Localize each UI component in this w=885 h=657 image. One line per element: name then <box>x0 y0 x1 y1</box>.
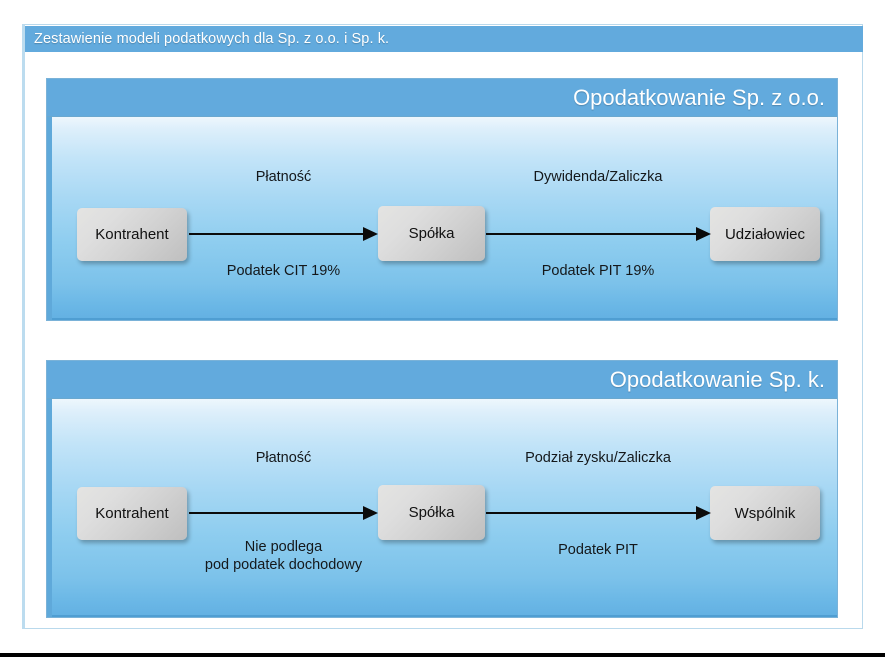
edge-label-below-2a: Nie podlega pod podatek dochodowy <box>173 538 394 574</box>
node-udzialowiec-1[interactable]: Udziałowiec <box>710 207 820 261</box>
node-spolka-1[interactable]: Spółka <box>378 206 485 261</box>
node-label: Spółka <box>409 225 455 242</box>
document-title-bar: Zestawienie modeli podatkowych dla Sp. z… <box>25 26 863 52</box>
arrow-kontrahent-to-spolka-1 <box>189 226 378 242</box>
panel-header-sp-k: Opodatkowanie Sp. k. <box>47 361 837 399</box>
node-label: Kontrahent <box>95 505 168 522</box>
edge-label-text: Podatek PIT 19% <box>542 263 655 279</box>
arrow-line <box>189 233 364 235</box>
edge-label-above-2b: Podział zysku/Zaliczka <box>486 449 710 467</box>
node-kontrahent-1[interactable]: Kontrahent <box>77 208 187 261</box>
panel-body-sp-k: Kontrahent Spółka Wspólnik Płatność Nie … <box>47 399 837 617</box>
edge-label-above-1b: Dywidenda/Zaliczka <box>486 168 710 186</box>
edge-label-above-2a: Płatność <box>189 449 378 467</box>
node-wspolnik-2[interactable]: Wspólnik <box>710 486 820 540</box>
arrow-spolka-to-udzialowiec-1 <box>486 226 710 242</box>
node-label: Spółka <box>409 504 455 521</box>
node-kontrahent-2[interactable]: Kontrahent <box>77 487 187 540</box>
edge-label-above-1a: Płatność <box>189 168 378 186</box>
edge-label-text: Podatek CIT 19% <box>227 263 340 279</box>
edge-label-below-1a: Podatek CIT 19% <box>179 262 388 280</box>
panel-title-sp-k: Opodatkowanie Sp. k. <box>610 367 825 393</box>
edge-label-text: Podatek PIT <box>558 542 638 558</box>
arrow-head-icon <box>363 227 378 241</box>
panel-body-sp-z-oo: Kontrahent Spółka Udziałowiec Płatność P… <box>47 117 837 320</box>
edge-label-text: Dywidenda/Zaliczka <box>534 169 663 185</box>
node-label: Udziałowiec <box>725 226 805 243</box>
edge-label-below-2b: Podatek PIT <box>486 541 710 559</box>
arrow-line <box>486 233 697 235</box>
arrow-line <box>486 512 697 514</box>
node-spolka-2[interactable]: Spółka <box>378 485 485 540</box>
edge-label-text: Płatność <box>256 450 312 466</box>
arrow-line <box>189 512 364 514</box>
edge-label-text: Podział zysku/Zaliczka <box>525 450 671 466</box>
edge-label-text-line1: Nie podlega <box>173 538 394 556</box>
panel-header-sp-z-oo: Opodatkowanie Sp. z o.o. <box>47 79 837 117</box>
arrow-spolka-to-wspolnik-2 <box>486 505 710 521</box>
node-label: Kontrahent <box>95 226 168 243</box>
panel-sp-z-oo: Opodatkowanie Sp. z o.o. Kontrahent Spół… <box>46 78 838 321</box>
edge-label-text: Płatność <box>256 169 312 185</box>
arrow-head-icon <box>363 506 378 520</box>
edge-label-below-1b: Podatek PIT 19% <box>486 262 710 280</box>
arrow-head-icon <box>696 506 711 520</box>
panel-title-sp-z-oo: Opodatkowanie Sp. z o.o. <box>573 85 825 111</box>
slide-canvas: Zestawienie modeli podatkowych dla Sp. z… <box>0 0 885 657</box>
node-label: Wspólnik <box>735 505 796 522</box>
arrow-kontrahent-to-spolka-2 <box>189 505 378 521</box>
edge-label-text-line2: pod podatek dochodowy <box>173 556 394 574</box>
panel-sp-k: Opodatkowanie Sp. k. Kontrahent Spółka W… <box>46 360 838 618</box>
bottom-rule <box>0 653 885 657</box>
page-title: Zestawienie modeli podatkowych dla Sp. z… <box>34 31 389 47</box>
arrow-head-icon <box>696 227 711 241</box>
